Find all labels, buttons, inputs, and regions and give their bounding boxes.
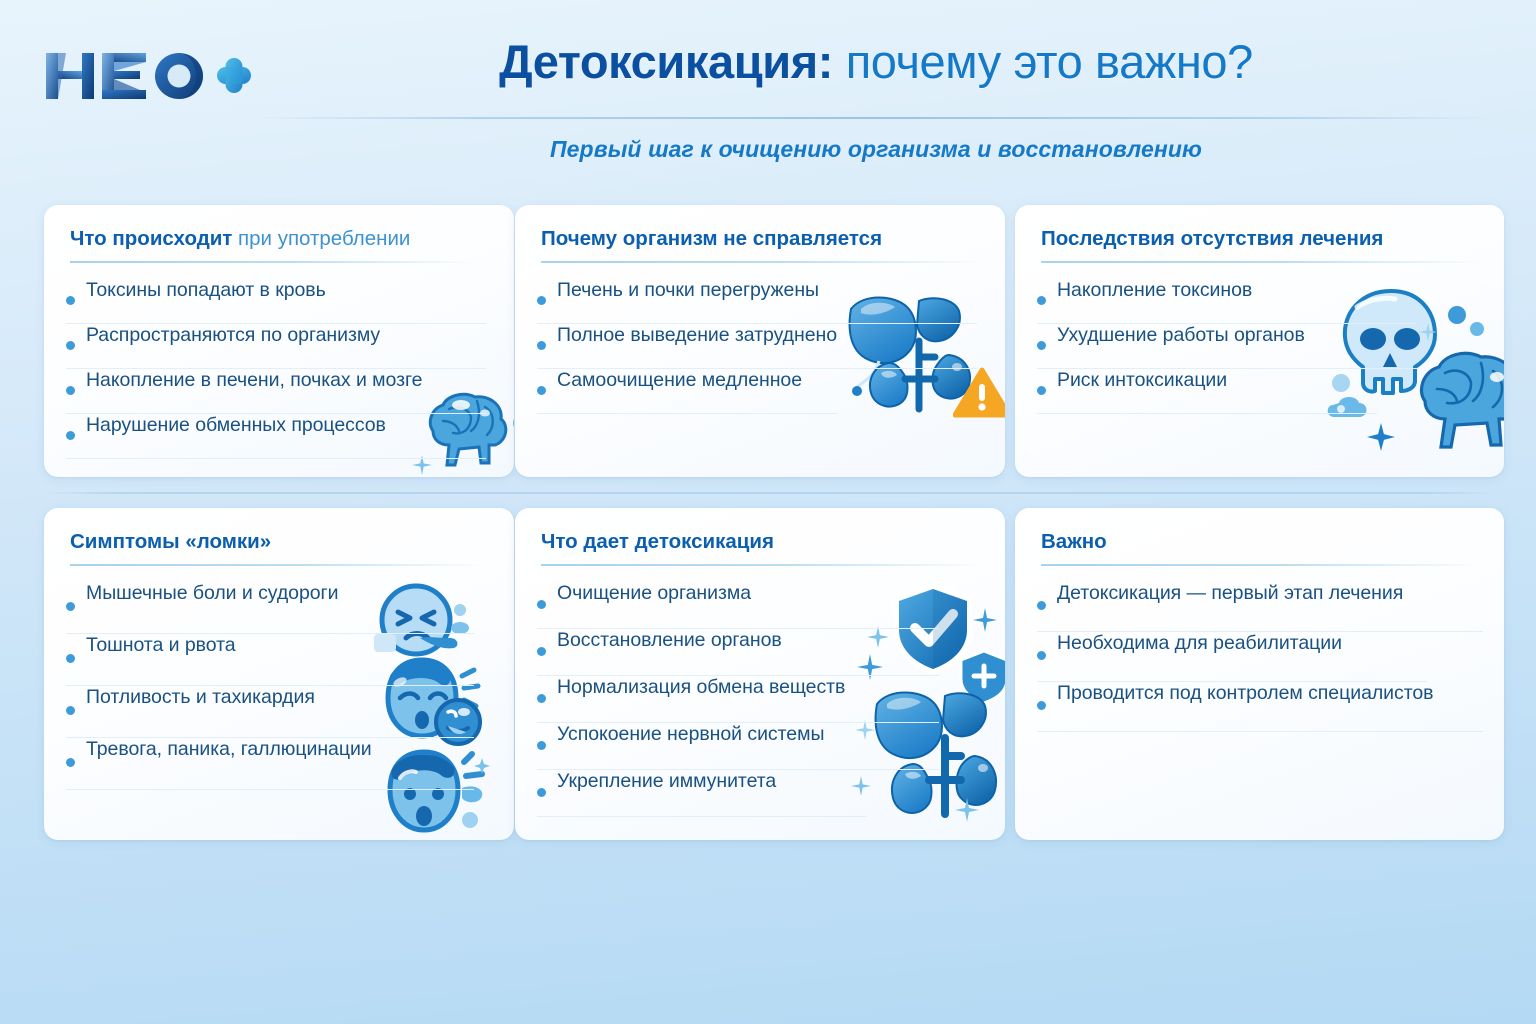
list-item: Потливость и тахикардия bbox=[66, 686, 474, 738]
list-item: Детоксикация — первый этап лечения bbox=[1037, 582, 1483, 632]
bullet-icon bbox=[537, 788, 546, 797]
list-item-label: Потливость и тахикардия bbox=[86, 686, 315, 709]
card-what-happens: Что происходит при употреблении bbox=[44, 205, 514, 477]
card-consequences: Последствия отсутствия лечения bbox=[1015, 205, 1504, 477]
sparkle-icon bbox=[1367, 423, 1395, 456]
page-title: Детоксикация: почему это важно? bbox=[256, 38, 1496, 86]
bullet-icon bbox=[1037, 701, 1046, 710]
card-title-strong: Что дает детоксикация bbox=[541, 530, 774, 553]
bullet-icon bbox=[66, 431, 75, 440]
list-item: Тревога, паника, галлюцинации bbox=[66, 738, 474, 790]
list-item: Накопление токсинов bbox=[1037, 279, 1417, 324]
list-item: Очищение организма bbox=[537, 582, 939, 629]
list-item-label: Токсины попадают в кровь bbox=[86, 279, 326, 302]
bullet-icon bbox=[66, 341, 75, 350]
list-item-label: Полное выведение затруднено bbox=[557, 324, 837, 347]
bullet-icon bbox=[1037, 651, 1046, 660]
list-item: Укрепление иммунитета bbox=[537, 770, 867, 817]
page-title-strong: Детоксикация: bbox=[499, 35, 833, 88]
list-item-label: Тревога, паника, галлюцинации bbox=[86, 738, 372, 761]
card-title-light: при употреблении bbox=[232, 227, 410, 250]
infographic-page: НЕО+ Детоксикация: почему это важно? Пер… bbox=[0, 0, 1536, 1024]
card-title-strong: Симптомы «ломки» bbox=[70, 530, 271, 553]
list-item-label: Накопление в печени, почках и мозге bbox=[86, 369, 422, 392]
list-item-label: Мышечные боли и судороги bbox=[86, 582, 338, 605]
card-title-underline bbox=[541, 261, 983, 263]
list-item-label: Проводится под контролем специалистов bbox=[1057, 682, 1434, 705]
card-list: Очищение организма Восстановление органо… bbox=[537, 582, 939, 817]
list-item: Риск интоксикации bbox=[1037, 369, 1377, 414]
card-title: Важно bbox=[1041, 530, 1107, 554]
bullet-icon bbox=[66, 654, 75, 663]
sparkle-icon bbox=[973, 608, 997, 637]
card-title-strong: Важно bbox=[1041, 530, 1107, 553]
card-title: Почему организм не справляется bbox=[541, 227, 882, 251]
card-title-underline bbox=[1041, 261, 1481, 263]
card-list: Мышечные боли и судороги Тошнота и рвота… bbox=[66, 582, 474, 790]
list-item: Мышечные боли и судороги bbox=[66, 582, 474, 634]
card-list: Накопление токсинов Ухудшение работы орг… bbox=[1037, 279, 1417, 414]
card-title: Последствия отсутствия лечения bbox=[1041, 227, 1383, 251]
bullet-icon bbox=[537, 296, 546, 305]
list-item: Самоочищение медленное bbox=[537, 369, 837, 414]
card-title-strong: Почему организм не справляется bbox=[541, 227, 882, 250]
list-item-label: Укрепление иммунитета bbox=[557, 770, 776, 793]
card-title-underline bbox=[70, 564, 482, 566]
list-item: Необходима для реабилитации bbox=[1037, 632, 1427, 682]
list-item-label: Риск интоксикации bbox=[1057, 369, 1227, 392]
list-item-label: Нарушение обменных процессов bbox=[86, 414, 386, 437]
list-item-label: Очищение организма bbox=[557, 582, 751, 605]
list-item-label: Детоксикация — первый этап лечения bbox=[1057, 582, 1403, 605]
sparkle-icon bbox=[955, 798, 979, 827]
card-title-strong: Что происходит bbox=[70, 227, 232, 250]
list-item: Распространяются по организму bbox=[66, 324, 486, 369]
bullet-icon bbox=[66, 758, 75, 767]
card-list: Токсины попадают в кровь Распространяютс… bbox=[66, 279, 486, 459]
title-divider bbox=[256, 117, 1496, 119]
sparkle-icon bbox=[1419, 323, 1437, 346]
card-title: Симптомы «ломки» bbox=[70, 530, 271, 554]
dot-decoration-icon bbox=[1445, 303, 1489, 352]
list-item-label: Нормализация обмена веществ bbox=[557, 676, 845, 699]
card-title-underline bbox=[1041, 564, 1481, 566]
list-item-label: Самоочищение медленное bbox=[557, 369, 802, 392]
list-item: Нарушение обменных процессов bbox=[66, 414, 486, 459]
bullet-icon bbox=[1037, 601, 1046, 610]
bullet-icon bbox=[1037, 296, 1046, 305]
card-list: Детоксикация — первый этап лечения Необх… bbox=[1037, 582, 1483, 732]
list-item-label: Успокоение нервной системы bbox=[557, 723, 824, 746]
list-item: Ухудшение работы органов bbox=[1037, 324, 1417, 369]
list-item-label: Тошнота и рвота bbox=[86, 634, 236, 657]
list-item-label: Ухудшение работы органов bbox=[1057, 324, 1305, 347]
bullet-icon bbox=[537, 647, 546, 656]
dot-decoration-icon bbox=[510, 413, 514, 468]
bullet-icon bbox=[66, 602, 75, 611]
list-item: Успокоение нервной системы bbox=[537, 723, 939, 770]
page-title-light: почему это важно? bbox=[833, 35, 1253, 88]
logo-letter-e bbox=[102, 53, 146, 99]
bullet-icon bbox=[537, 386, 546, 395]
brain-icon bbox=[1407, 345, 1504, 465]
bullet-icon bbox=[66, 386, 75, 395]
bullet-icon bbox=[66, 296, 75, 305]
card-title: Что происходит при употреблении bbox=[70, 227, 410, 251]
list-item-label: Необходима для реабилитации bbox=[1057, 632, 1342, 655]
bullet-icon bbox=[537, 600, 546, 609]
card-list: Печень и почки перегружены Полное выведе… bbox=[537, 279, 977, 414]
list-item: Полное выведение затруднено bbox=[537, 324, 977, 369]
logo-letter-o bbox=[155, 53, 203, 99]
card-title-strong: Последствия отсутствия лечения bbox=[1041, 227, 1383, 250]
brand-logo: НЕО+ bbox=[42, 45, 252, 107]
list-item: Печень и почки перегружены bbox=[537, 279, 977, 324]
list-item: Проводится под контролем специалистов bbox=[1037, 682, 1483, 732]
card-title-underline bbox=[70, 261, 472, 263]
page-header: НЕО+ Детоксикация: почему это важно? Пер… bbox=[0, 0, 1536, 188]
logo-letter-n bbox=[46, 53, 94, 99]
card-important: Важно Детоксикация — первый этап лечения… bbox=[1015, 508, 1504, 840]
list-item-label: Восстановление органов bbox=[557, 629, 782, 652]
card-detox-benefits: Что дает детоксикация bbox=[515, 508, 1005, 840]
list-item-label: Печень и почки перегружены bbox=[557, 279, 819, 302]
card-withdrawal-symptoms: Симптомы «ломки» bbox=[44, 508, 514, 840]
list-item: Нормализация обмена веществ bbox=[537, 676, 939, 723]
bullet-icon bbox=[537, 341, 546, 350]
logo-plus-icon bbox=[217, 58, 251, 93]
list-item-label: Распространяются по организму bbox=[86, 324, 380, 347]
card-title-underline bbox=[541, 564, 983, 566]
card-title: Что дает детоксикация bbox=[541, 530, 774, 554]
list-item: Тошнота и рвота bbox=[66, 634, 474, 686]
bullet-icon bbox=[1037, 386, 1046, 395]
bullet-icon bbox=[66, 706, 75, 715]
list-item: Накопление в печени, почках и мозге bbox=[66, 369, 486, 414]
row-divider bbox=[44, 492, 1496, 494]
list-item: Токсины попадают в кровь bbox=[66, 279, 486, 324]
list-item-label: Накопление токсинов bbox=[1057, 279, 1252, 302]
bullet-icon bbox=[537, 741, 546, 750]
card-why-body-fails: Почему организм не справляется bbox=[515, 205, 1005, 477]
bullet-icon bbox=[537, 694, 546, 703]
shield-plus-icon bbox=[957, 648, 1005, 711]
bullet-icon bbox=[1037, 341, 1046, 350]
page-subtitle: Первый шаг к очищению организма и восста… bbox=[256, 136, 1496, 163]
list-item: Восстановление органов bbox=[537, 629, 939, 676]
